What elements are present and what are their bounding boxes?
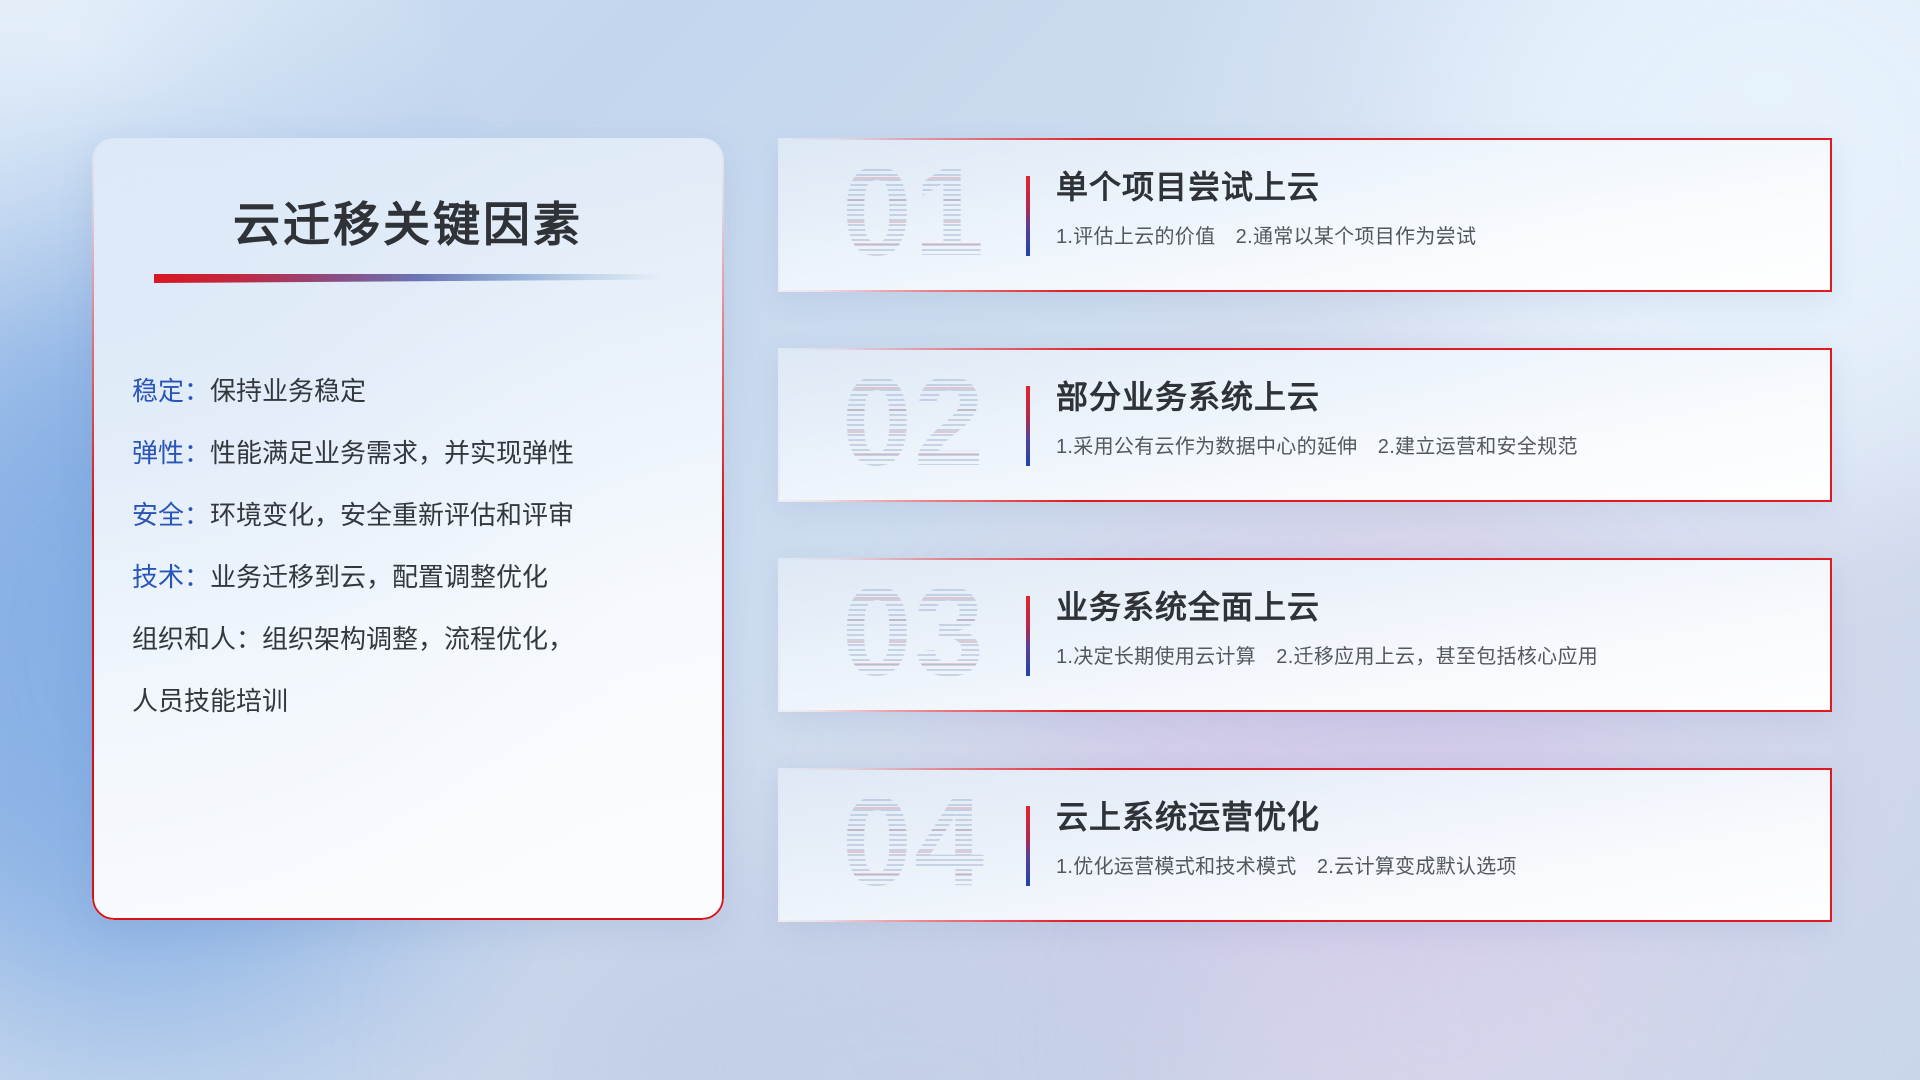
key-factors-list: 稳定：保持业务稳定弹性：性能满足业务需求，并实现弹性安全：环境变化，安全重新评估… (132, 360, 696, 732)
stage-accent-bar (1026, 386, 1030, 466)
stage-number: 04 (804, 754, 1024, 930)
key-factor-label: 弹性： (132, 438, 210, 468)
key-factor-row: 弹性：性能满足业务需求，并实现弹性 (132, 422, 696, 484)
key-factor-text: 性能满足业务需求，并实现弹性 (210, 438, 574, 468)
stage-accent-bar (1026, 176, 1030, 256)
stage-card-body: 部分业务系统上云1.采用公有云作为数据中心的延伸 2.建立运营和安全规范 (1056, 374, 1812, 462)
key-factor-text: 保持业务稳定 (210, 376, 366, 406)
stage-number-accent: 04 (804, 754, 1024, 930)
title-underline-bar (154, 274, 662, 283)
stage-card-body: 单个项目尝试上云1.评估上云的价值 2.通常以某个项目作为尝试 (1056, 164, 1812, 252)
stage-title: 业务系统全面上云 (1056, 584, 1812, 630)
stage-card-body: 业务系统全面上云1.决定长期使用云计算 2.迁移应用上云，甚至包括核心应用 (1056, 584, 1812, 672)
stages-card-list: 0101单个项目尝试上云1.评估上云的价值 2.通常以某个项目作为尝试0202部… (778, 138, 1832, 978)
key-factor-label: 安全： (132, 500, 210, 530)
key-factor-row: 稳定：保持业务稳定 (132, 360, 696, 422)
stage-number-accent: 02 (804, 334, 1024, 510)
key-factor-text: 业务迁移到云，配置调整优化 (210, 562, 548, 592)
stage-number: 03 (804, 544, 1024, 720)
stage-card-body: 云上系统运营优化1.优化运营模式和技术模式 2.云计算变成默认选项 (1056, 794, 1812, 882)
slide-canvas: 云迁移关键因素 稳定：保持业务稳定弹性：性能满足业务需求，并实现弹性安全：环境变… (0, 0, 1920, 1080)
stage-number: 02 (804, 334, 1024, 510)
stage-number-accent: 03 (804, 544, 1024, 720)
stage-accent-bar (1026, 806, 1030, 886)
stage-accent-bar (1026, 596, 1030, 676)
key-factor-row: 组织和人：组织架构调整，流程优化， (132, 608, 696, 670)
stage-card[interactable]: 0101单个项目尝试上云1.评估上云的价值 2.通常以某个项目作为尝试 (778, 138, 1832, 292)
key-factor-text: 组织架构调整，流程优化， (262, 624, 574, 654)
page-title: 云迁移关键因素 (92, 186, 724, 255)
stage-title: 云上系统运营优化 (1056, 794, 1812, 840)
stage-subtitle: 1.采用公有云作为数据中心的延伸 2.建立运营和安全规范 (1056, 432, 1812, 462)
key-factor-label: 技术： (132, 562, 210, 592)
key-factor-label: 稳定： (132, 376, 210, 406)
key-factor-label: 组织和人： (132, 624, 262, 654)
stage-subtitle: 1.评估上云的价值 2.通常以某个项目作为尝试 (1056, 222, 1812, 252)
stage-title: 单个项目尝试上云 (1056, 164, 1812, 210)
stage-title: 部分业务系统上云 (1056, 374, 1812, 420)
key-factor-row: 人员技能培训 (132, 670, 696, 732)
key-factor-text: 环境变化，安全重新评估和评审 (210, 500, 574, 530)
stage-card[interactable]: 0404云上系统运营优化1.优化运营模式和技术模式 2.云计算变成默认选项 (778, 768, 1832, 922)
stage-card[interactable]: 0303业务系统全面上云1.决定长期使用云计算 2.迁移应用上云，甚至包括核心应… (778, 558, 1832, 712)
key-factor-row: 安全：环境变化，安全重新评估和评审 (132, 484, 696, 546)
stage-subtitle: 1.决定长期使用云计算 2.迁移应用上云，甚至包括核心应用 (1056, 642, 1812, 672)
stage-number: 01 (804, 124, 1024, 300)
key-factors-panel: 云迁移关键因素 稳定：保持业务稳定弹性：性能满足业务需求，并实现弹性安全：环境变… (92, 138, 724, 920)
stage-subtitle: 1.优化运营模式和技术模式 2.云计算变成默认选项 (1056, 852, 1812, 882)
key-factor-row: 技术：业务迁移到云，配置调整优化 (132, 546, 696, 608)
stage-card[interactable]: 0202部分业务系统上云1.采用公有云作为数据中心的延伸 2.建立运营和安全规范 (778, 348, 1832, 502)
stage-number-accent: 01 (804, 124, 1024, 300)
key-factor-text: 人员技能培训 (132, 686, 288, 716)
